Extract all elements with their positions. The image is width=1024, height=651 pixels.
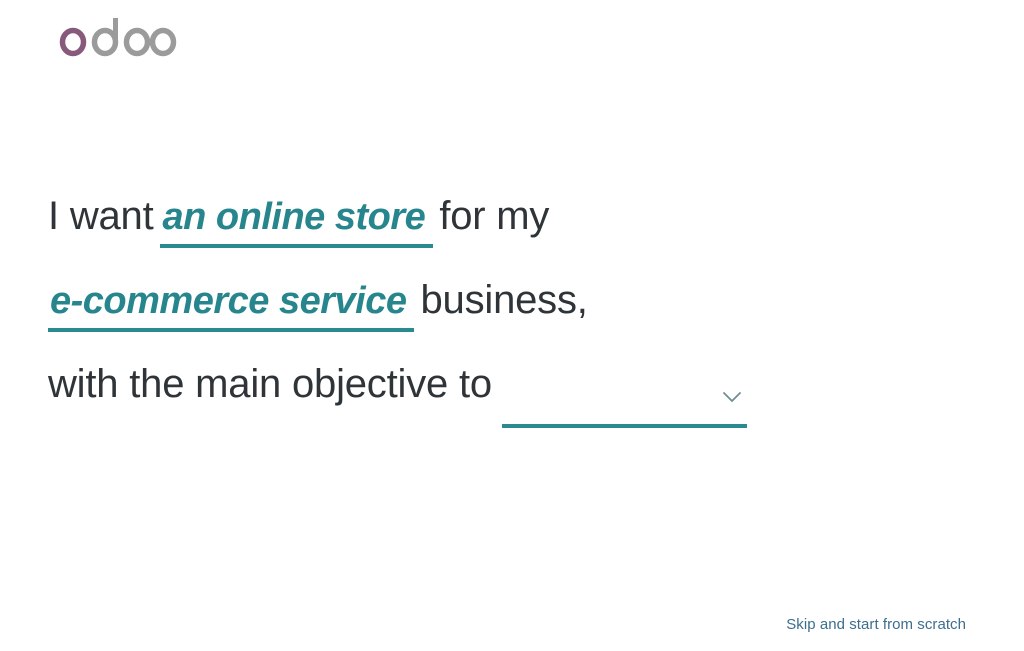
website-configurator-form: I want an online store for my e-commerce… <box>48 196 948 428</box>
configurator-line-objective: with the main objective to <box>48 364 948 428</box>
chevron-down-icon <box>721 389 743 405</box>
objective-dropdown[interactable] <box>502 378 747 428</box>
odoo-logo-mark <box>58 12 178 58</box>
skip-and-start-from-scratch-link[interactable]: Skip and start from scratch <box>786 616 966 633</box>
line1-lead-text: I want <box>48 196 154 236</box>
website-type-field[interactable]: an online store <box>160 198 434 248</box>
odoo-logo[interactable] <box>58 12 178 58</box>
configurator-line-business: e-commerce service business, <box>48 280 948 332</box>
configurator-line-industry: I want an online store for my <box>48 196 948 248</box>
line1-trail-text: for my <box>439 196 549 236</box>
line2-trail-text: business, <box>420 280 587 320</box>
line3-lead-text: with the main objective to <box>48 364 492 404</box>
industry-field[interactable]: e-commerce service <box>48 282 414 332</box>
